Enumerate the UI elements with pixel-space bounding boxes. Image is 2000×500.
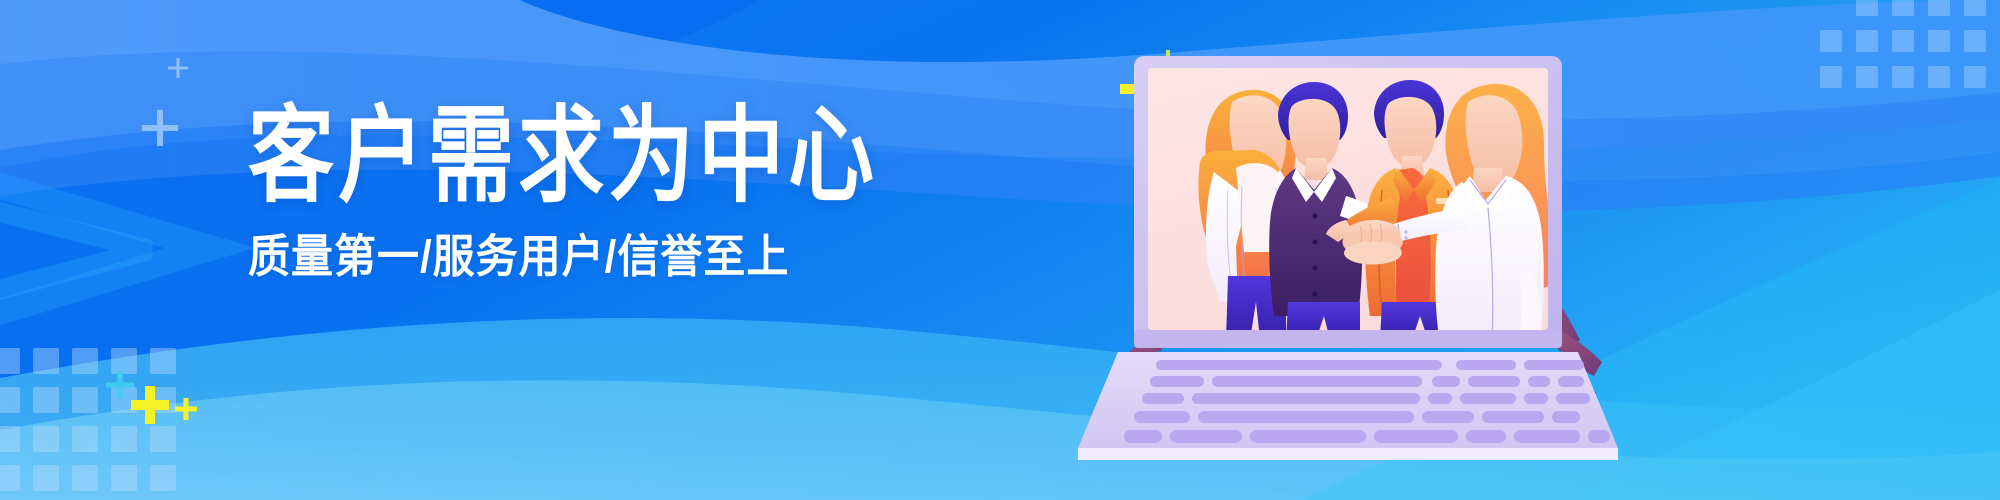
page-title: 客户需求为中心: [248, 104, 868, 209]
plus-white-large-left: [142, 110, 178, 146]
screen-scene: [1148, 68, 1562, 342]
plus-white-small-top-left: [168, 58, 188, 78]
dot-grid-bottom-left: [0, 348, 176, 491]
plus-yellow-small-bottom-left: [175, 398, 197, 420]
dot-grid-top-right: [1820, 0, 1986, 88]
chevron-outline-outer: [0, 168, 210, 330]
plus-cyan-bottom-left: [106, 371, 134, 399]
promo-banner: 客户需求为中心 质量第一/服务用户/信誉至上: [0, 0, 2000, 500]
chevron-outline-inner: [0, 202, 150, 300]
laptop-lid-base: [1134, 330, 1562, 348]
page-subtitle: 质量第一/服务用户/信誉至上: [248, 232, 868, 282]
stacked-hands: [1343, 220, 1403, 265]
subheadline-wrap: 质量第一/服务用户/信誉至上: [248, 232, 868, 278]
headline-block: 客户需求为中心 质量第一/服务用户/信誉至上: [248, 104, 868, 278]
laptop-keyboard: [1078, 352, 1618, 460]
laptop-team-illustration: [1110, 40, 1630, 470]
plus-yellow-large-bottom-left: [131, 386, 169, 424]
